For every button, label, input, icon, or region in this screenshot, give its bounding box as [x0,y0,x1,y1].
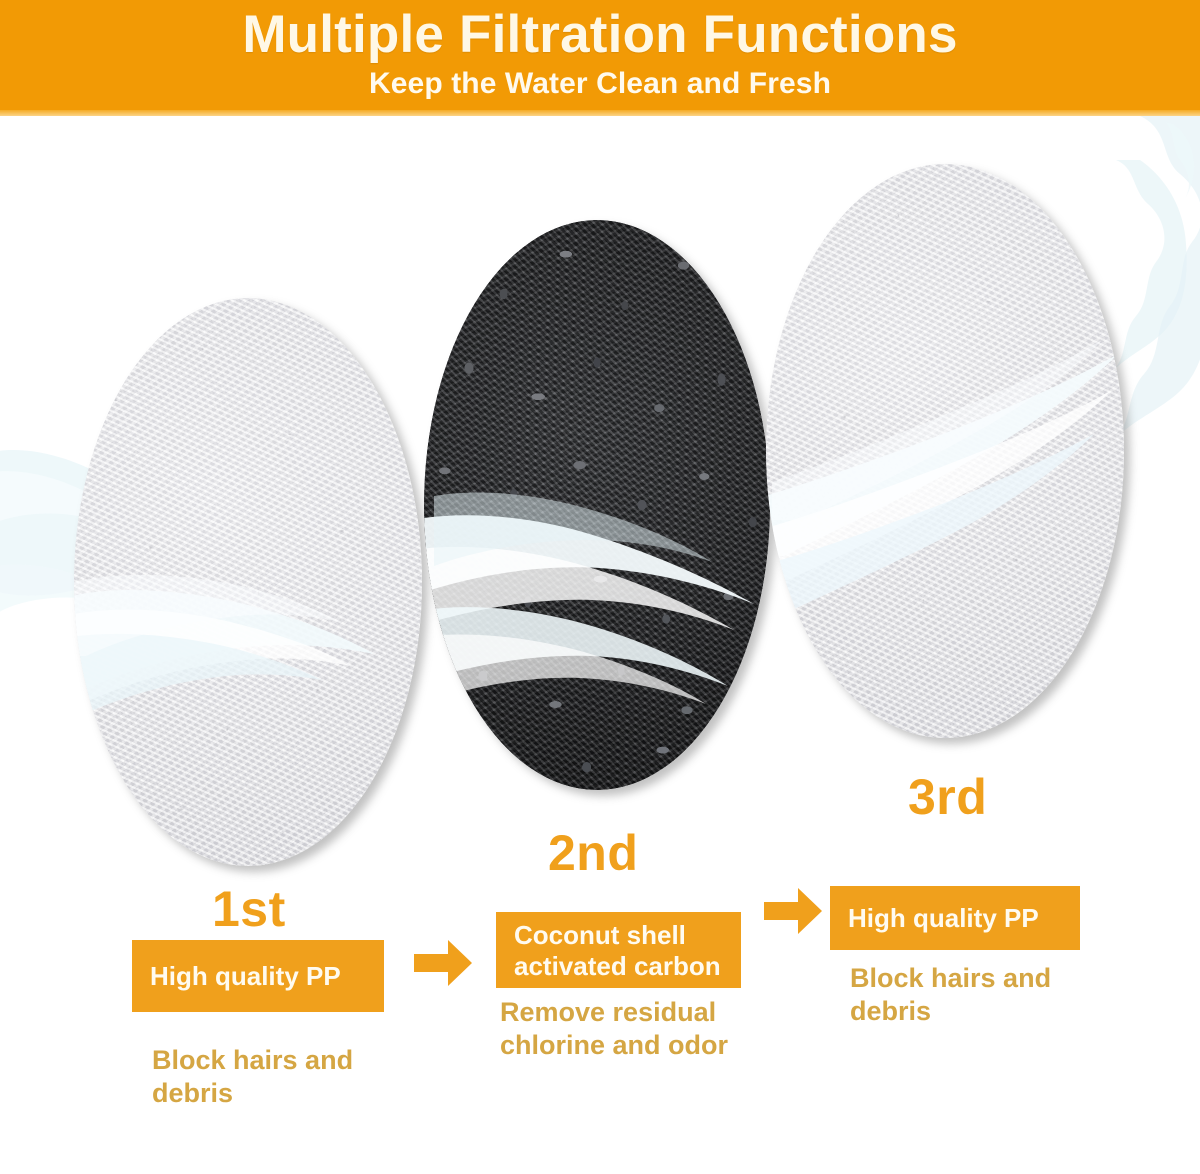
stage-chip-2-label: Coconut shell activated carbon [514,920,721,982]
stage-chip-2[interactable]: Coconut shell activated carbon [496,912,741,988]
activated-carbon-texture [424,220,770,790]
pp-fiber-texture [74,298,422,866]
stage-chip-3-label: High quality PP [848,903,1039,934]
pp-fiber-texture [766,164,1124,738]
page-subtitle: Keep the Water Clean and Fresh [0,65,1200,103]
flow-arrow-2-to-3-icon [762,884,824,938]
stage-caption-2: Remove residual chlorine and odor [500,996,770,1062]
stage-ordinal-2: 2nd [548,828,638,878]
stage-chip-3[interactable]: High quality PP [830,886,1080,950]
header-banner: Multiple Filtration Functions Keep the W… [0,0,1200,116]
disc-2-surface [424,220,770,790]
stage-chip-1-label: High quality PP [150,961,341,992]
stage-chip-1[interactable]: High quality PP [132,940,384,1012]
flow-arrow-1-to-2-icon [412,936,474,990]
filter-disc-1-pp [74,298,422,866]
disc-1-surface [74,298,422,866]
filter-disc-3-pp [766,164,1124,738]
page-title: Multiple Filtration Functions [0,4,1200,66]
filter-disc-2-activated-carbon [424,220,770,790]
filtration-stage-area: 1st 2nd 3rd High quality PP Coconut shel… [0,116,1200,1174]
stage-ordinal-3: 3rd [908,772,987,822]
infographic-page: Multiple Filtration Functions Keep the W… [0,0,1200,1174]
disc-3-surface [766,164,1124,738]
stage-caption-3: Block hairs and debris [850,962,1110,1028]
stage-caption-1: Block hairs and debris [152,1044,412,1110]
stage-ordinal-1: 1st [212,884,286,934]
